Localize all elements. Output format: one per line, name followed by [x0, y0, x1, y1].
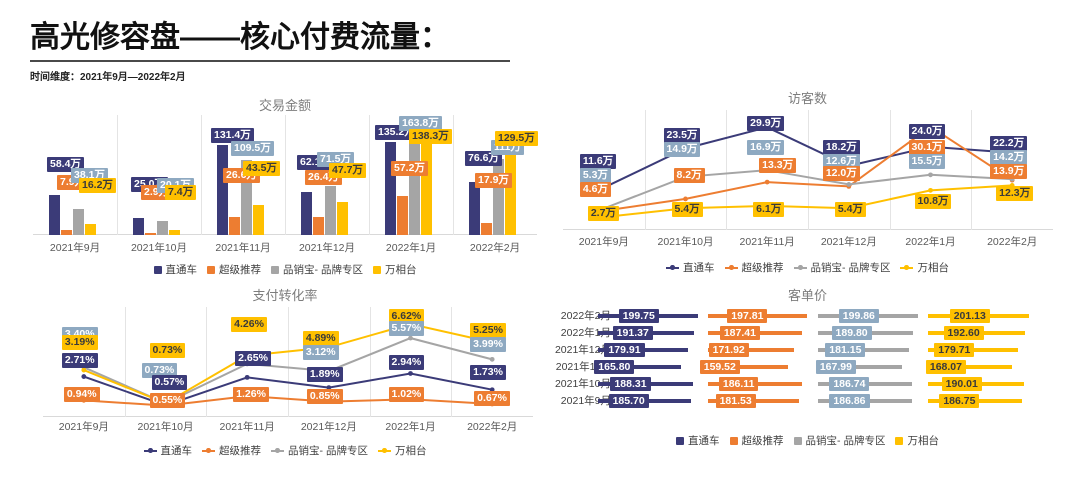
chart4-plot-area: 2022年2月199.75197.81199.86201.132022年1月19…: [545, 307, 1070, 411]
chart3-x-tick: 2022年2月: [451, 419, 533, 434]
legend-label: 直通车: [161, 443, 193, 458]
chart4-data-label: 201.13: [950, 309, 990, 323]
chart3-data-label: 0.55%: [150, 393, 186, 408]
chart4-row: 2021年11月165.80159.52167.99168.07: [545, 358, 1070, 375]
chart2-data-label: 23.5万: [664, 128, 701, 143]
chart1-data-label: 47.7万: [329, 163, 366, 178]
chart2-legend: 直通车超级推荐品销宝- 品牌专区万相台: [545, 260, 1070, 275]
chart1-bar[interactable]: [253, 205, 264, 235]
chart3-data-label: 0.57%: [152, 375, 188, 390]
legend-swatch-1: [144, 450, 157, 452]
chart-transaction-amount: 交易金额 58.4万7.9万38.1万16.2万25.0万2.9万20.1万7.…: [25, 95, 545, 270]
legend-swatch-4: [378, 450, 391, 452]
chart3-x-tick: 2021年11月: [206, 419, 288, 434]
chart4-row: 2021年10月188.31186.11186.74190.01: [545, 375, 1070, 392]
chart2-x-tick: 2021年10月: [645, 234, 727, 249]
chart-unit-price: 客单价 2022年2月199.75197.81199.86201.132022年…: [545, 285, 1070, 460]
legend-marker-dot: [798, 265, 803, 270]
chart1-legend-item[interactable]: 万相台: [373, 262, 417, 277]
legend-swatch-1: [154, 266, 162, 274]
chart4-data-label: 168.07: [926, 360, 966, 374]
chart3-data-label: 4.26%: [231, 317, 267, 332]
chart2-legend-item[interactable]: 直通车: [666, 260, 715, 275]
chart1-data-label: 43.5万: [243, 161, 280, 176]
chart2-x-axis: 2021年9月2021年10月2021年11月2021年12月2022年1月20…: [563, 234, 1053, 249]
chart4-data-label: 199.75: [619, 309, 659, 323]
chart1-bar-group: [133, 218, 185, 235]
chart3-x-tick: 2021年12月: [288, 419, 370, 434]
chart1-data-label: 129.5万: [495, 131, 538, 146]
chart3-data-point: [490, 357, 495, 362]
chart4-data-label: 190.01: [942, 377, 982, 391]
chart-visitors: 访客数 11.6万5.3万4.6万2.7万23.5万14.9万8.2万5.4万2…: [545, 88, 1070, 273]
chart3-x-tick: 2021年10月: [125, 419, 207, 434]
chart4-row: 2021年12月179.91171.92181.15179.71: [545, 341, 1070, 358]
chart4-row: 2022年2月199.75197.81199.86201.13: [545, 307, 1070, 324]
chart4-data-label: 159.52: [700, 360, 740, 374]
chart4-data-label: 165.80: [594, 360, 634, 374]
chart3-data-label: 0.94%: [64, 387, 100, 402]
chart-conversion-rate: 支付转化率 3.40%3.19%2.71%0.94%0.73%0.73%0.57…: [25, 285, 545, 460]
chart1-bar[interactable]: [313, 217, 324, 235]
chart1-x-tick: 2021年10月: [117, 240, 201, 255]
chart2-data-point: [765, 180, 770, 185]
legend-swatch-1: [666, 267, 679, 269]
chart2-data-label: 10.8万: [915, 194, 952, 209]
chart1-x-tick: 2021年12月: [285, 240, 369, 255]
chart3-legend-item[interactable]: 直通车: [144, 443, 193, 458]
chart1-legend: 直通车超级推荐品销宝- 品牌专区万相台: [25, 262, 545, 277]
chart3-data-label: 4.89%: [303, 331, 339, 346]
chart1-plot-area: 58.4万7.9万38.1万16.2万25.0万2.9万20.1万7.4万131…: [33, 115, 537, 235]
chart2-legend-item[interactable]: 万相台: [900, 260, 949, 275]
chart4-data-label: 186.86: [829, 394, 869, 408]
chart4-data-label: 192.60: [944, 326, 984, 340]
chart4-data-label: 189.80: [832, 326, 872, 340]
chart4-data-label: 179.91: [604, 343, 644, 357]
chart4-data-label: 167.99: [816, 360, 856, 374]
legend-label: 直通车: [688, 433, 720, 448]
chart1-data-label: 138.3万: [409, 129, 452, 144]
chart2-legend-item[interactable]: 品销宝- 品牌专区: [794, 260, 891, 275]
chart2-data-label: 15.5万: [909, 154, 946, 169]
chart1-bar[interactable]: [337, 202, 348, 235]
chart1-gridline: [285, 115, 286, 235]
chart4-data-label: 186.11: [719, 377, 759, 391]
chart4-track: 179.91171.92181.15179.71: [616, 343, 1070, 357]
chart2-data-label: 16.9万: [747, 140, 784, 155]
chart1-bar[interactable]: [217, 145, 228, 235]
chart3-x-tick: 2021年9月: [43, 419, 125, 434]
chart1-gridline: [117, 115, 118, 235]
chart1-bar[interactable]: [325, 186, 336, 235]
chart1-data-label: 57.2万: [391, 161, 428, 176]
legend-swatch-3: [794, 437, 802, 445]
chart1-bar[interactable]: [133, 218, 144, 235]
legend-label: 超级推荐: [742, 433, 784, 448]
legend-swatch-2: [730, 437, 738, 445]
page-title: 高光修容盘——核心付费流量：: [30, 18, 550, 58]
legend-marker-dot: [275, 448, 280, 453]
chart3-data-point: [81, 374, 86, 379]
legend-label: 超级推荐: [219, 443, 261, 458]
chart2-data-label: 11.6万: [580, 154, 616, 169]
chart4-data-label: 188.31: [610, 377, 650, 391]
chart1-bar[interactable]: [481, 223, 492, 235]
chart3-data-point: [81, 368, 86, 373]
chart4-track: 185.70181.53186.86186.75: [616, 394, 1070, 408]
chart2-x-tick: 2022年1月: [890, 234, 972, 249]
chart2-lines: [563, 110, 1053, 230]
chart1-bar[interactable]: [229, 217, 240, 235]
chart3-data-point: [408, 371, 413, 376]
chart4-data-label: 185.70: [609, 394, 649, 408]
legend-label: 超级推荐: [219, 262, 261, 277]
chart1-legend-item[interactable]: 直通车: [154, 262, 198, 277]
legend-swatch-2: [207, 266, 215, 274]
chart2-data-point: [683, 197, 688, 202]
chart4-data-label: 171.92: [709, 343, 749, 357]
chart3-data-label: 0.73%: [150, 343, 186, 358]
chart4-data-label: 199.86: [839, 309, 879, 323]
chart1-legend-item[interactable]: 超级推荐: [207, 262, 261, 277]
chart1-bar[interactable]: [385, 142, 396, 235]
chart4-title: 客单价: [545, 285, 1070, 304]
chart3-data-label: 3.19%: [62, 335, 98, 350]
chart2-plot-area: 11.6万5.3万4.6万2.7万23.5万14.9万8.2万5.4万29.9万…: [563, 110, 1053, 230]
chart1-x-tick: 2021年11月: [201, 240, 285, 255]
chart3-data-label: 5.25%: [470, 323, 506, 338]
legend-swatch-4: [900, 267, 913, 269]
chart3-data-label: 1.26%: [233, 387, 269, 402]
chart2-data-label: 24.0万: [909, 124, 946, 139]
chart1-title: 交易金额: [25, 95, 545, 114]
legend-swatch-2: [202, 450, 215, 452]
chart1-bar-group: [217, 145, 269, 235]
chart2-data-label: 14.9万: [664, 142, 701, 157]
chart4-legend-item[interactable]: 直通车: [676, 433, 720, 448]
chart2-data-label: 6.1万: [753, 202, 784, 217]
legend-swatch-1: [676, 437, 684, 445]
chart2-data-label: 5.3万: [580, 168, 611, 183]
chart1-bar[interactable]: [493, 159, 504, 235]
chart3-x-axis: 2021年9月2021年10月2021年11月2021年12月2022年1月20…: [43, 419, 533, 434]
chart3-data-label: 3.12%: [303, 345, 339, 360]
legend-marker-dot: [148, 448, 153, 453]
chart2-data-label: 18.2万: [823, 140, 860, 155]
chart1-bar[interactable]: [505, 146, 516, 235]
chart2-data-point: [928, 188, 933, 193]
chart1-bar[interactable]: [421, 140, 432, 235]
chart2-data-label: 13.9万: [990, 164, 1027, 179]
chart1-bar[interactable]: [469, 182, 480, 235]
chart4-data-label: 197.81: [727, 309, 767, 323]
legend-swatch-4: [373, 266, 381, 274]
chart2-data-label: 22.2万: [990, 136, 1027, 151]
chart2-data-label: 12.3万: [996, 186, 1033, 201]
chart2-data-label: 2.7万: [588, 206, 619, 221]
chart3-legend-item[interactable]: 万相台: [378, 443, 427, 458]
legend-swatch-3: [794, 267, 807, 269]
chart1-x-tick: 2022年1月: [369, 240, 453, 255]
chart4-row: 2021年9月185.70181.53186.86186.75: [545, 392, 1070, 409]
chart1-bar[interactable]: [169, 230, 180, 235]
chart4-legend: 直通车超级推荐品销宝- 品牌专区万相台: [545, 433, 1070, 448]
chart4-legend-item[interactable]: 超级推荐: [730, 433, 784, 448]
chart4-track: 188.31186.11186.74190.01: [616, 377, 1070, 391]
chart1-bar[interactable]: [145, 233, 156, 235]
chart2-data-label: 29.9万: [747, 116, 784, 131]
chart2-x-tick: 2022年2月: [971, 234, 1053, 249]
title-underline: [30, 60, 510, 62]
chart4-data-label: 181.15: [825, 343, 865, 357]
chart1-bar-group: [301, 186, 353, 235]
chart3-data-label: 0.85%: [307, 389, 343, 404]
chart1-x-axis: 2021年9月2021年10月2021年11月2021年12月2022年1月20…: [33, 240, 537, 255]
chart1-data-label: 7.4万: [165, 185, 196, 200]
legend-label: 直通车: [683, 260, 715, 275]
legend-label: 品销宝- 品牌专区: [288, 443, 368, 458]
chart1-legend-item[interactable]: 品销宝- 品牌专区: [271, 262, 363, 277]
chart2-data-label: 8.2万: [674, 168, 705, 183]
chart3-title: 支付转化率: [25, 285, 545, 304]
chart3-data-point: [408, 336, 413, 341]
chart4-data-label: 186.74: [829, 377, 869, 391]
chart4-row: 2022年1月191.37187.41189.80192.60: [545, 324, 1070, 341]
chart2-data-label: 5.4万: [672, 202, 703, 217]
chart4-track: 199.75197.81199.86201.13: [616, 309, 1070, 323]
chart1-bar[interactable]: [61, 230, 72, 235]
chart2-title: 访客数: [545, 88, 1070, 107]
legend-label: 万相台: [395, 443, 427, 458]
chart4-legend-item[interactable]: 品销宝- 品牌专区: [794, 433, 886, 448]
legend-label: 万相台: [385, 262, 417, 277]
chart4-legend-item[interactable]: 万相台: [895, 433, 939, 448]
chart2-x-tick: 2021年12月: [808, 234, 890, 249]
chart3-lines: [43, 307, 533, 417]
chart1-bar[interactable]: [49, 195, 60, 235]
chart3-data-point: [245, 375, 250, 380]
chart3-data-label: 3.99%: [470, 337, 506, 352]
chart2-data-point: [928, 172, 933, 177]
chart2-data-label: 13.3万: [759, 158, 796, 173]
chart1-bar[interactable]: [73, 209, 84, 235]
chart1-bar[interactable]: [157, 221, 168, 235]
chart3-data-label: 1.89%: [307, 367, 343, 382]
slide-canvas: 高光修容盘——核心付费流量： 时间维度：2021年9月—2022年2月 交易金额…: [0, 0, 1080, 481]
chart2-data-point: [846, 182, 851, 187]
chart4-data-label: 186.75: [939, 394, 979, 408]
legend-label: 万相台: [907, 433, 939, 448]
chart1-x-tick: 2021年9月: [33, 240, 117, 255]
legend-label: 万相台: [917, 260, 949, 275]
chart3-x-tick: 2022年1月: [370, 419, 452, 434]
chart3-data-label: 1.73%: [470, 365, 506, 380]
chart4-track: 165.80159.52167.99168.07: [616, 360, 1070, 374]
chart4-data-label: 179.71: [934, 343, 974, 357]
chart4-data-label: 191.37: [613, 326, 653, 340]
legend-marker-dot: [206, 448, 211, 453]
legend-marker-dot: [729, 265, 734, 270]
chart2-data-label: 12.0万: [823, 166, 860, 181]
chart1-gridline: [369, 115, 370, 235]
chart3-data-label: 2.94%: [389, 355, 425, 370]
chart1-bar[interactable]: [85, 224, 96, 235]
legend-swatch-3: [271, 266, 279, 274]
chart2-data-label: 4.6万: [580, 182, 611, 197]
legend-swatch-4: [895, 437, 903, 445]
chart2-data-label: 14.2万: [990, 150, 1027, 165]
legend-label: 品销宝- 品牌专区: [806, 433, 886, 448]
legend-marker-dot: [382, 448, 387, 453]
chart4-data-label: 181.53: [716, 394, 756, 408]
chart1-data-label: 109.5万: [231, 141, 274, 156]
chart2-x-tick: 2021年11月: [726, 234, 808, 249]
chart3-data-label: 1.02%: [389, 387, 425, 402]
chart3-data-label: 2.71%: [62, 353, 98, 368]
chart1-bar-group: [49, 195, 101, 235]
chart2-x-tick: 2021年9月: [563, 234, 645, 249]
chart1-data-label: 17.9万: [475, 173, 512, 188]
chart1-data-label: 16.2万: [79, 178, 116, 193]
chart3-plot-area: 3.40%3.19%2.71%0.94%0.73%0.73%0.57%0.55%…: [43, 307, 533, 417]
chart3-data-label: 5.57%: [389, 321, 425, 336]
chart1-bar[interactable]: [301, 192, 312, 235]
chart3-legend: 直通车超级推荐品销宝- 品牌专区万相台: [25, 443, 545, 458]
chart2-legend-item[interactable]: 超级推荐: [725, 260, 784, 275]
header: 高光修容盘——核心付费流量： 时间维度：2021年9月—2022年2月: [30, 18, 550, 83]
chart1-bar[interactable]: [397, 196, 408, 235]
chart4-data-label: 187.41: [720, 326, 760, 340]
page-subtitle: 时间维度：2021年9月—2022年2月: [30, 68, 550, 83]
chart2-data-label: 30.1万: [909, 140, 946, 155]
legend-label: 直通车: [166, 262, 198, 277]
chart3-data-label: 0.67%: [474, 391, 510, 406]
legend-marker-dot: [904, 265, 909, 270]
chart1-gridline: [453, 115, 454, 235]
chart3-legend-item[interactable]: 品销宝- 品牌专区: [271, 443, 368, 458]
legend-label: 品销宝- 品牌专区: [283, 262, 363, 277]
legend-swatch-2: [725, 267, 738, 269]
chart1-x-tick: 2022年2月: [453, 240, 537, 255]
chart4-track: 191.37187.41189.80192.60: [616, 326, 1070, 340]
legend-label: 品销宝- 品牌专区: [811, 260, 891, 275]
legend-swatch-3: [271, 450, 284, 452]
chart1-gridline: [201, 115, 202, 235]
chart2-data-label: 5.4万: [835, 202, 866, 217]
legend-label: 超级推荐: [742, 260, 784, 275]
chart3-legend-item[interactable]: 超级推荐: [202, 443, 261, 458]
legend-marker-dot: [670, 265, 675, 270]
chart3-data-label: 2.65%: [235, 351, 271, 366]
